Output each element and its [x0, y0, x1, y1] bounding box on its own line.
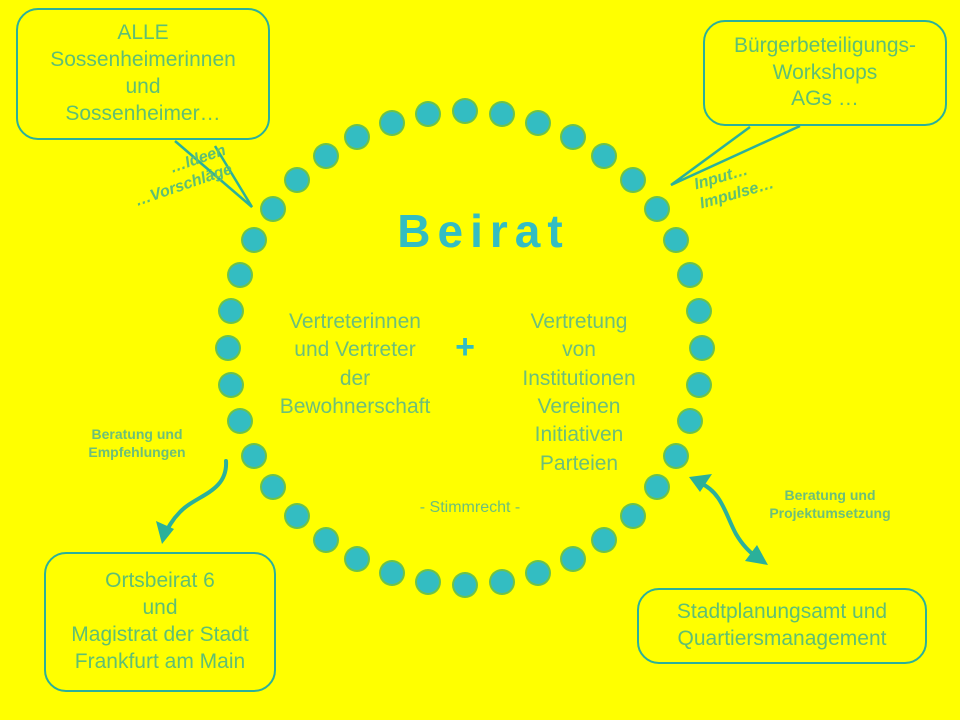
circle-dot	[220, 300, 242, 322]
circle-dot	[562, 548, 584, 570]
circle-dot	[381, 112, 403, 134]
circle-dot	[220, 374, 242, 396]
box-stadtplanungsamt-quartiersmanagement: Stadtplanungsamt und Quartiersmanagement	[637, 588, 927, 664]
circle-dot	[315, 529, 337, 551]
circle-dot	[527, 112, 549, 134]
caption-beratung-projektumsetzung: Beratung und Projektumsetzung	[742, 486, 918, 522]
circle-dot	[593, 529, 615, 551]
circle-dot	[454, 100, 476, 122]
page-title: Beirat	[0, 204, 960, 258]
speech-bubble-buergerbeteiligung: Bürgerbeteiligungs- Workshops AGs …	[703, 20, 947, 126]
circle-dot	[243, 445, 265, 467]
circle-dot	[217, 337, 239, 359]
circle-dot	[315, 145, 337, 167]
circle-dot	[688, 300, 710, 322]
circle-dot	[593, 145, 615, 167]
circle-dot	[346, 548, 368, 570]
circle-dot	[691, 337, 713, 359]
circle-dot	[229, 410, 251, 432]
circle-dot	[527, 562, 549, 584]
circle-dot	[286, 505, 308, 527]
circle-dot	[562, 126, 584, 148]
circle-dot	[381, 562, 403, 584]
speech-bubble-alle-sossenheimer: ALLE Sossenheimerinnen und Sossenheimer…	[16, 8, 270, 140]
circle-dot	[262, 476, 284, 498]
circle-dot	[688, 374, 710, 396]
circle-dot	[622, 169, 644, 191]
diagram-canvas: Beirat + Vertreterinnen und Vertreter de…	[0, 0, 960, 720]
circle-dot	[646, 476, 668, 498]
circle-dot	[417, 103, 439, 125]
stimmrecht-note: - Stimmrecht -	[370, 499, 570, 517]
center-left-column: Vertreterinnen und Vertreter der Bewohne…	[262, 308, 448, 421]
circle-dot	[679, 264, 701, 286]
circle-dot	[679, 410, 701, 432]
circle-dot	[346, 126, 368, 148]
center-right-column: Vertretung von Institutionen Vereinen In…	[486, 308, 672, 478]
caption-beratung-empfehlungen: Beratung und Empfehlungen	[62, 425, 212, 461]
plus-icon: +	[448, 330, 482, 364]
circle-dot	[454, 574, 476, 596]
box-ortsbeirat-magistrat: Ortsbeirat 6 und Magistrat der Stadt Fra…	[44, 552, 276, 692]
circle-dot	[491, 571, 513, 593]
circle-dot	[491, 103, 513, 125]
circle-dot	[286, 169, 308, 191]
circle-dot	[417, 571, 439, 593]
circle-dot	[622, 505, 644, 527]
circle-dot	[229, 264, 251, 286]
